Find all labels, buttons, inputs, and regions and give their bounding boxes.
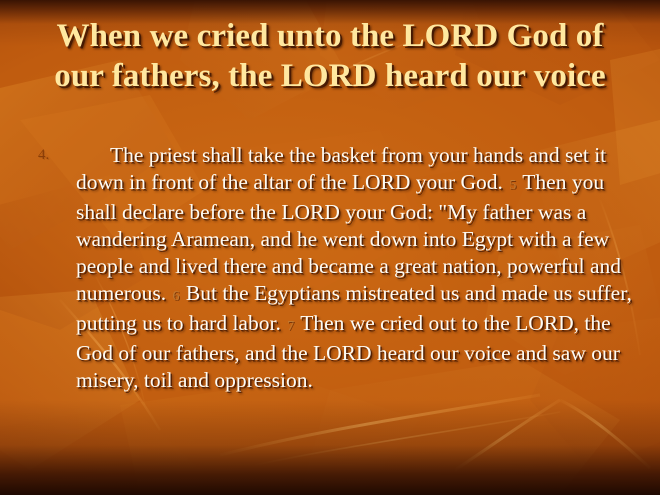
scripture-paragraph: The priest shall take the basket from yo… xyxy=(76,142,632,394)
verse-number: 6 xyxy=(172,289,181,304)
slide-body: 4. The priest shall take the basket from… xyxy=(36,120,632,415)
bullet-marker: 4. xyxy=(38,148,72,163)
verse-number: 7 xyxy=(286,319,295,334)
presentation-slide: When we cried unto the LORD God of our f… xyxy=(0,0,660,495)
verse-number: 5 xyxy=(508,178,517,193)
slide-title: When we cried unto the LORD God of our f… xyxy=(12,16,648,96)
title-line-2: our fathers, the LORD heard our voice xyxy=(12,56,648,96)
bullet-list-item: 4. The priest shall take the basket from… xyxy=(36,142,632,394)
title-line-1: When we cried unto the LORD God of xyxy=(12,16,648,56)
